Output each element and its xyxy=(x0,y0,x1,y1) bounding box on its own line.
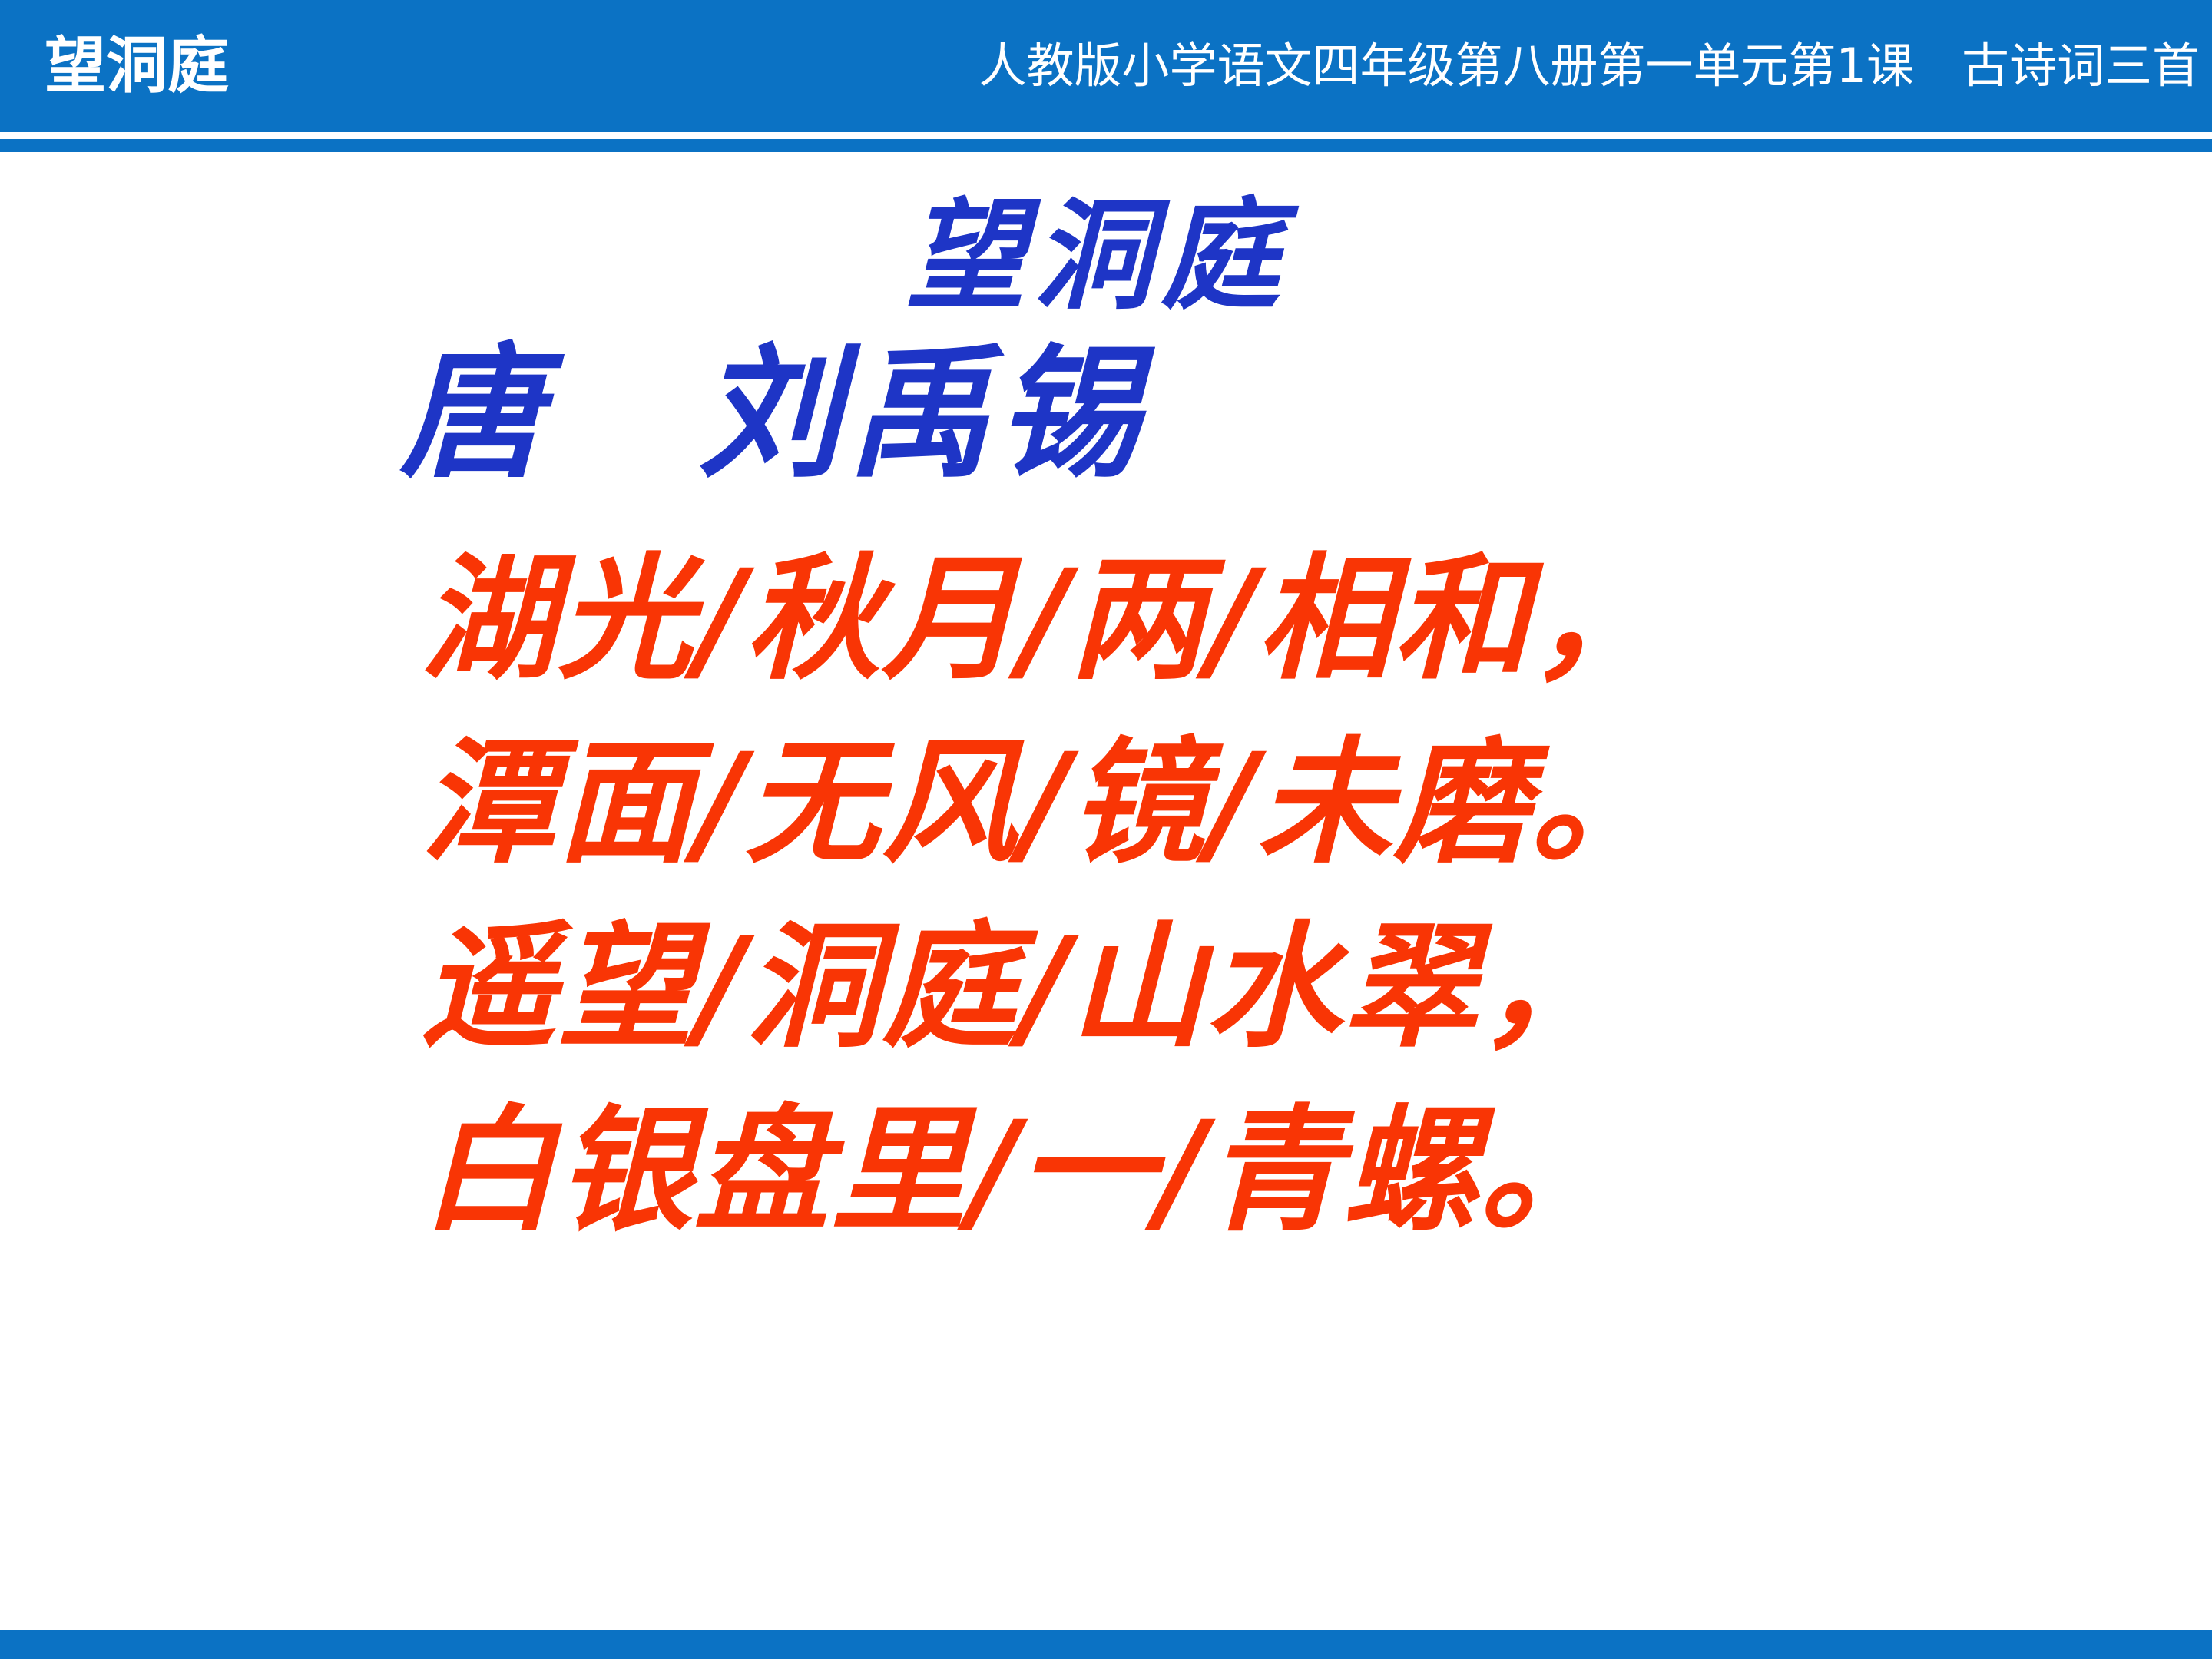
poem-title: 望洞庭 xyxy=(0,189,2203,323)
poem-content-area: 望洞庭 唐 刘禹锡 湖光/秋月/两/相和， 潭面/无风/镜/未磨。 遥望/洞庭/… xyxy=(0,152,2212,1630)
header-subtitle: 人教版小学语文四年级第八册第一单元第1课 古诗词三首 xyxy=(979,42,2200,90)
slide-canvas: 望洞庭 人教版小学语文四年级第八册第一单元第1课 古诗词三首 望洞庭 唐 刘禹锡… xyxy=(0,0,2212,1659)
poem-verse-line: 遥望/洞庭/山水翠， xyxy=(421,895,2034,1078)
header-accent-stripe xyxy=(0,139,2212,152)
header-title: 望洞庭 xyxy=(45,35,229,97)
poem-verse-line: 湖光/秋月/两/相和， xyxy=(421,527,2034,710)
header-bar: 望洞庭 人教版小学语文四年级第八册第一单元第1课 古诗词三首 xyxy=(0,0,2212,132)
poem-verse-list: 湖光/秋月/两/相和， 潭面/无风/镜/未磨。 遥望/洞庭/山水翠， 白银盘里/… xyxy=(421,527,2034,1262)
poem-verse-line: 潭面/无风/镜/未磨。 xyxy=(421,710,2034,894)
footer-bar xyxy=(0,1630,2212,1659)
poem-verse-line: 白银盘里/一/青螺。 xyxy=(421,1078,2034,1262)
poem-author: 唐 刘禹锡 xyxy=(0,335,1879,492)
